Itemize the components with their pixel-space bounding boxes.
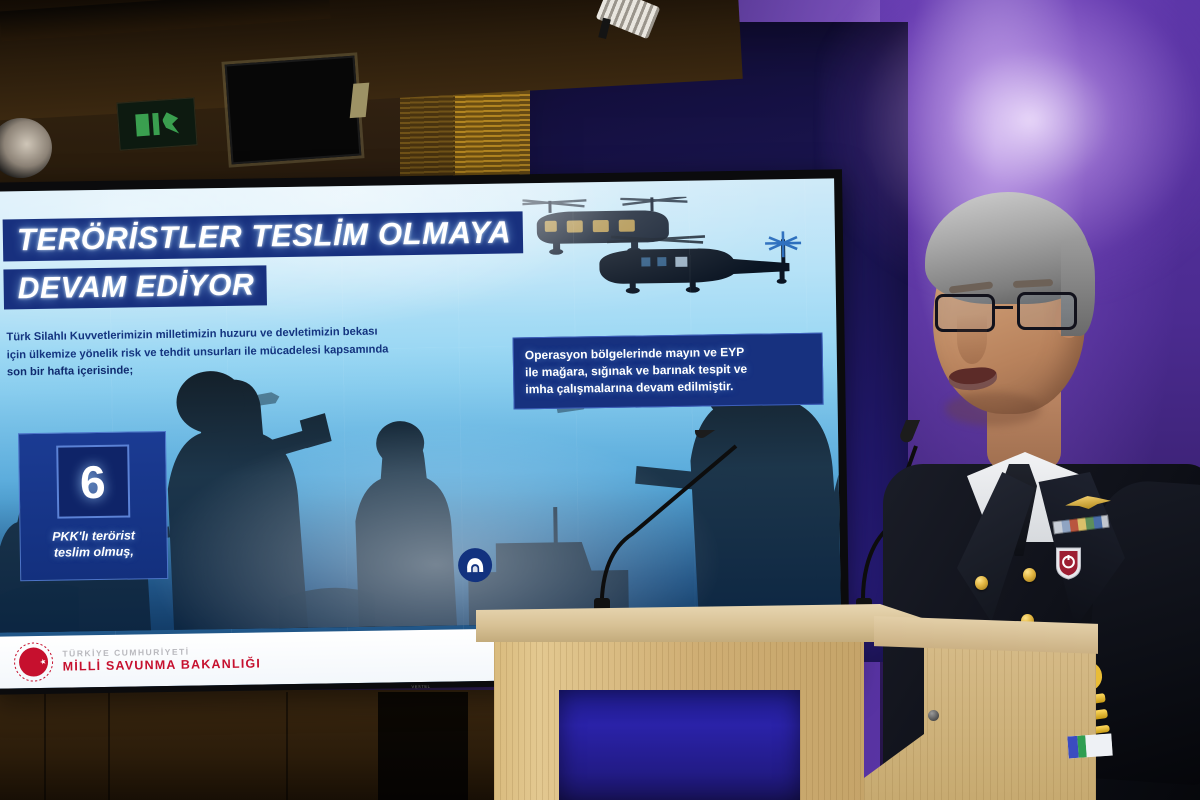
exit-sign-icon: EXIT: [116, 97, 197, 150]
footer-ministry-text: TÜRKİYE CUMHURİYETİ MİLLİ SAVUNMA BAKANL…: [62, 646, 261, 673]
podium-grain: [864, 638, 1096, 800]
gooseneck-microphone-left[interactable]: [586, 430, 746, 610]
slide-body-copy: Türk Silahlı Kuvvetlerimizin milletimizi…: [6, 323, 437, 382]
wall-seam: [286, 692, 288, 800]
slide-info-box: Operasyon bölgelerinde mayın ve EYP ile …: [513, 333, 824, 410]
display-brand-label: VESTEL: [411, 684, 430, 689]
slide-title-line-1: TERÖRİSTLER TESLİM OLMAYA: [3, 211, 524, 261]
dark-doorway: [378, 692, 468, 800]
small-object-on-podium: [1067, 733, 1112, 758]
unit-shield-badge-icon: [1055, 546, 1082, 580]
statistic-card: 6 PKK'lı terörist teslim olmuş,: [18, 431, 168, 581]
podium-knob-icon: [928, 710, 939, 721]
statistic-caption: PKK'lı terörist teslim olmuş,: [52, 527, 135, 560]
podium-lectern-surface-right: [874, 616, 1098, 654]
chin-shadow: [945, 392, 1041, 426]
press-briefing-scene: EXIT: [0, 0, 1200, 800]
uh-60-black-hawk-helicopter: [593, 231, 809, 296]
wall-seam: [44, 692, 46, 800]
info-box-line-3: imha çalışmalarına devam edilmiştir.: [525, 377, 811, 398]
statistic-caption-line-2: teslim olmuş,: [52, 543, 135, 560]
slide-title-line-2: DEVAM EDİYOR: [3, 265, 266, 309]
wall-monitor-icon: [225, 56, 362, 165]
wall-seam: [108, 692, 110, 800]
statistic-value: 6: [56, 445, 130, 519]
nose: [957, 314, 987, 364]
footer-line-2: MİLLİ SAVUNMA BAKANLIĞI: [63, 656, 262, 673]
shelter-cave-icon: [458, 548, 493, 583]
podium-blue-panel: [559, 690, 800, 800]
turkish-republic-crescent-star-logo: [13, 642, 54, 683]
statistic-caption-line-1: PKK'lı terörist: [52, 527, 135, 544]
podium-right-side: [864, 638, 1096, 800]
speaking-podium: [476, 604, 1096, 800]
